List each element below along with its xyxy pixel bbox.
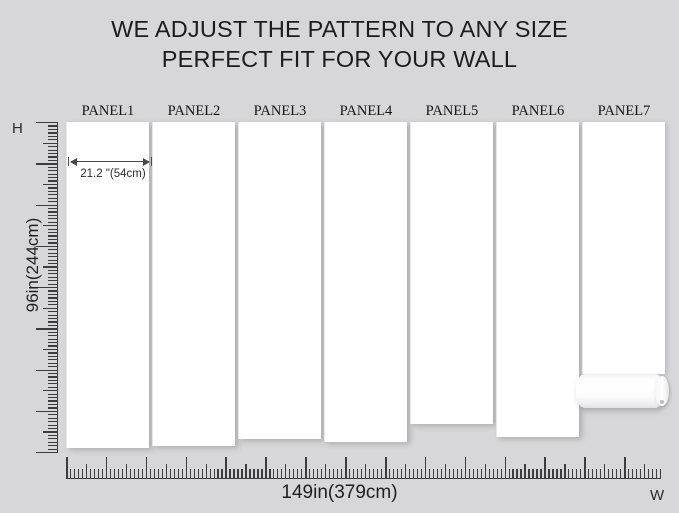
panel-width-dimension: 21.2 "(54cm) (68, 155, 152, 189)
panel-2[interactable] (152, 122, 235, 446)
panel-roll[interactable] (576, 374, 664, 408)
panel-5[interactable] (410, 122, 493, 424)
panel-6[interactable] (496, 122, 579, 437)
arrow-left-icon (70, 158, 77, 166)
panel-label-5: PANEL5 (410, 103, 494, 120)
panel-label-1: PANEL1 (66, 103, 150, 120)
panel-4[interactable] (324, 122, 407, 442)
panel-label-4: PANEL4 (324, 103, 408, 120)
panel-label-3: PANEL3 (238, 103, 322, 120)
dimension-endcap-left (68, 157, 69, 166)
dimension-line (71, 161, 149, 162)
panel-label-6: PANEL6 (496, 103, 580, 120)
panel-7[interactable] (582, 122, 665, 374)
panel-group: PANEL1 PANEL2 PANEL3 PANEL4 PANEL5 PANEL… (0, 0, 679, 513)
panel-label-2: PANEL2 (152, 103, 236, 120)
arrow-right-icon (143, 158, 150, 166)
dimension-endcap-right (151, 157, 152, 166)
panel-roll-nub (660, 400, 664, 404)
panel-3[interactable] (238, 122, 321, 439)
panel-width-text: 21.2 "(54cm) (68, 168, 158, 180)
panel-label-7: PANEL7 (582, 103, 666, 120)
